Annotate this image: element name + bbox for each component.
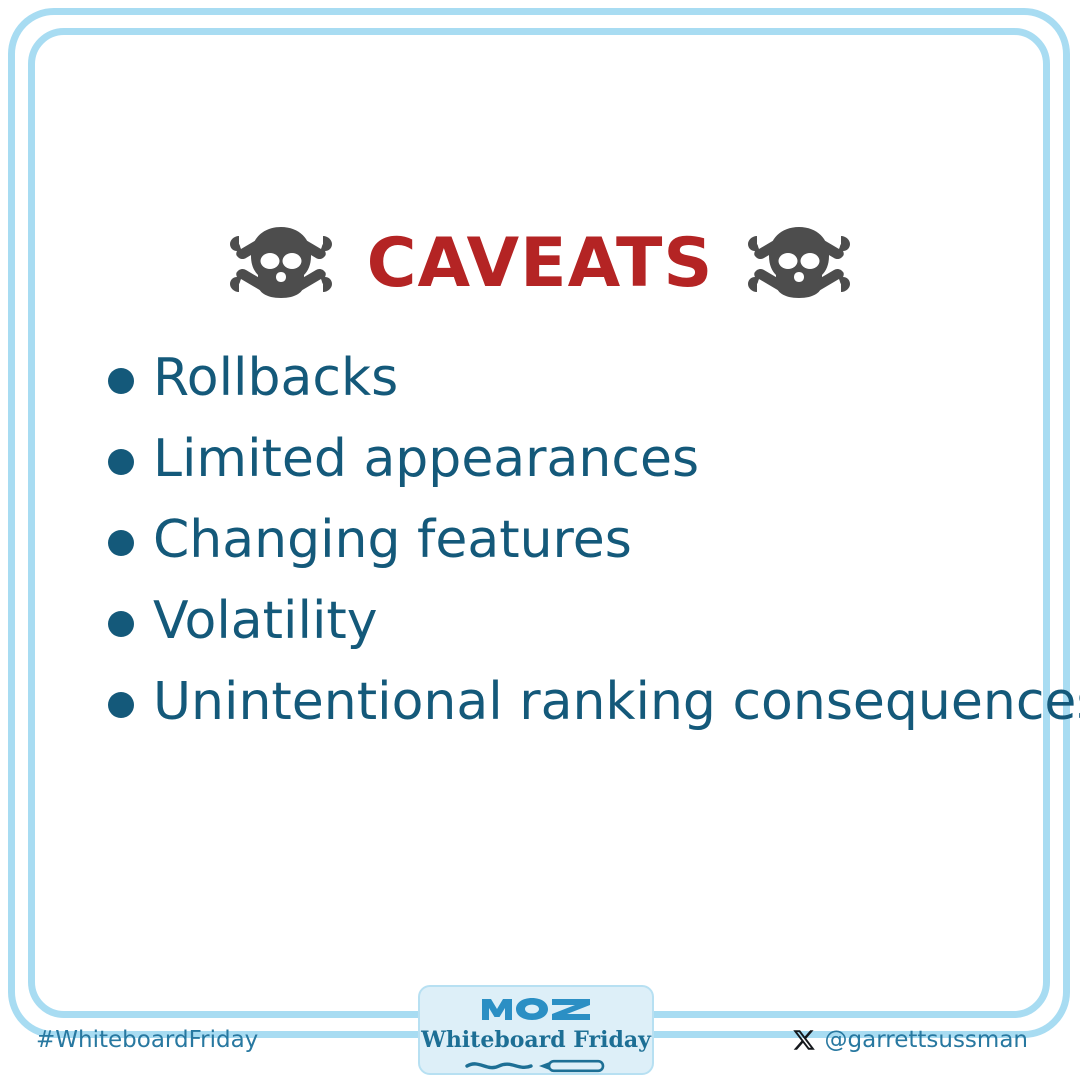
bullet-dot-icon — [108, 449, 134, 475]
skull-and-crossbones-icon-left — [229, 222, 333, 306]
list-item: Limited appearances — [108, 419, 1028, 500]
list-item: Unintentional ranking consequences — [108, 662, 1028, 743]
moz-logo — [480, 996, 592, 1022]
list-item-label: Changing features — [153, 513, 632, 568]
list-item-label: Rollbacks — [153, 351, 398, 406]
social-handle-label: @garrettsussman — [825, 1027, 1029, 1053]
bullet-dot-icon — [108, 368, 134, 394]
social-handle[interactable]: @garrettsussman — [792, 1027, 1029, 1053]
bullet-dot-icon — [108, 692, 134, 718]
marker-squiggle-icon — [461, 1051, 611, 1075]
list-item: Changing features — [108, 500, 1028, 581]
list-item: Rollbacks — [108, 338, 1028, 419]
title-row: CAVEATS — [0, 222, 1080, 306]
caveats-list: Rollbacks Limited appearances Changing f… — [108, 338, 1028, 743]
moz-whiteboard-friday-badge[interactable]: Whiteboard Friday — [418, 985, 654, 1075]
list-item-label: Volatility — [153, 594, 378, 649]
badge-caption: Whiteboard Friday — [421, 1029, 651, 1051]
x-twitter-icon — [792, 1028, 816, 1052]
page-title: CAVEATS — [367, 230, 714, 298]
slide-canvas: CAVEATS Rollbacks — [0, 0, 1080, 1080]
bullet-dot-icon — [108, 611, 134, 637]
bullet-dot-icon — [108, 530, 134, 556]
list-item-label: Unintentional ranking consequences — [153, 675, 1080, 730]
list-item: Volatility — [108, 581, 1028, 662]
list-item-label: Limited appearances — [153, 432, 699, 487]
skull-and-crossbones-icon-right — [747, 222, 851, 306]
hashtag-label: #WhiteboardFriday — [36, 1027, 258, 1053]
